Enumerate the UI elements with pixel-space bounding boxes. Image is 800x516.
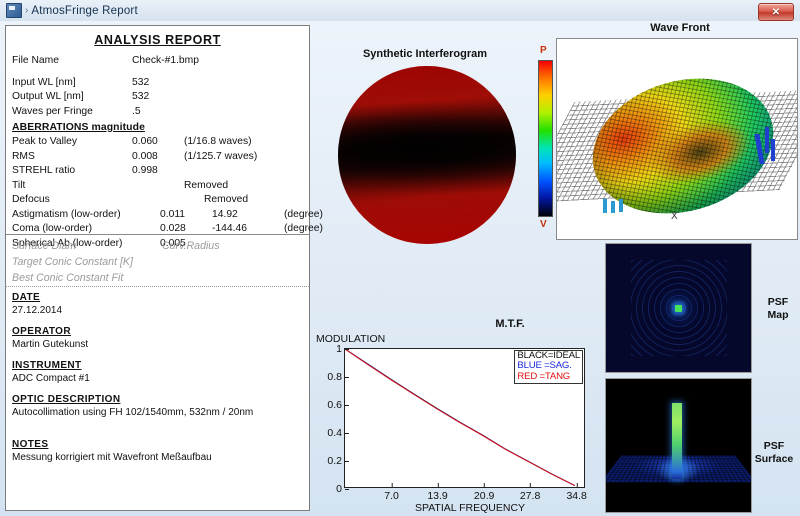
title-separator-icon: › bbox=[25, 5, 28, 16]
legend-item-tangential: RED =TANG bbox=[517, 372, 580, 382]
aberration-value: 0.998 bbox=[132, 164, 184, 179]
mtf-y-tick: 1 bbox=[336, 343, 345, 355]
aberration-note: (1/125.7 waves) bbox=[184, 150, 257, 165]
color-scale-gradient bbox=[538, 60, 553, 217]
mtf-x-tick: 27.8 bbox=[520, 487, 540, 502]
aberration-note: (degree) bbox=[284, 208, 323, 223]
aberration-note: (degree) bbox=[284, 222, 323, 237]
mtf-x-axis-label: SPATIAL FREQUENCY bbox=[415, 502, 525, 514]
psf-surface-label-line1: PSF bbox=[764, 440, 784, 452]
application-window: › AtmosFringe Report ✕ ANALYSIS REPORT F… bbox=[0, 0, 800, 516]
aberration-note: (1/16.8 waves) bbox=[184, 135, 252, 150]
psf-surface-peak bbox=[672, 403, 682, 479]
aberration-row: RMS 0.008 (1/125.7 waves) bbox=[12, 150, 303, 165]
psf-surface-label-line2: Surface bbox=[755, 453, 794, 465]
metadata-section: DATE 27.12.2014 OPERATOR Martin Gutekuns… bbox=[6, 287, 309, 508]
peak-label: P bbox=[540, 45, 547, 56]
param-label: Waves per Fringe bbox=[12, 105, 132, 120]
mtf-y-tick: 0.4 bbox=[327, 427, 345, 439]
conic-label: Best Conic Constant Fit bbox=[12, 270, 162, 286]
aberration-value bbox=[132, 193, 204, 208]
instrument-value: ADC Compact #1 bbox=[12, 372, 303, 385]
wavefront-edge-spike bbox=[619, 199, 623, 212]
wavefront-plot: X bbox=[556, 38, 798, 240]
wavefront-edge-spike bbox=[611, 201, 615, 213]
interferogram-fringe-overlay bbox=[338, 66, 516, 244]
conic-label: Target Conic Constant [K] bbox=[12, 254, 162, 270]
aberration-label: Coma (low-order) bbox=[12, 222, 160, 237]
psf-map-image bbox=[605, 243, 752, 373]
param-value: .5 bbox=[132, 105, 184, 120]
mtf-y-tick: 0 bbox=[336, 483, 345, 495]
color-scale: P V bbox=[536, 47, 554, 227]
param-label: Output WL [nm] bbox=[12, 90, 132, 105]
wavefront-edge-spike bbox=[771, 139, 775, 161]
instrument-heading: INSTRUMENT bbox=[12, 360, 303, 371]
aberration-note: Removed bbox=[204, 193, 248, 208]
param-label: Input WL [nm] bbox=[12, 76, 132, 91]
analysis-report-panel: ANALYSIS REPORT File Name Check-#1.bmp I… bbox=[5, 25, 310, 511]
aberration-row: STREHL ratio 0.998 bbox=[12, 164, 303, 179]
aberration-note: Removed bbox=[184, 179, 228, 194]
synthetic-interferogram-image bbox=[338, 66, 516, 244]
mtf-chart: 00.20.40.60.81 7.013.920.927.834.8 BLACK… bbox=[344, 348, 585, 488]
psf-surface-label: PSF Surface bbox=[748, 440, 800, 466]
aberration-row: Astigmatism (low-order) 0.011 14.92 (deg… bbox=[12, 208, 303, 223]
aberrations-heading: ABERRATIONS magnitude bbox=[12, 122, 303, 133]
aberration-row: Defocus Removed bbox=[12, 193, 303, 208]
aberration-angle: -144.46 bbox=[212, 222, 284, 237]
wavefront-x-axis-label: X bbox=[671, 211, 678, 222]
aberration-value: 0.028 bbox=[160, 222, 212, 237]
conic-row: Target Conic Constant [K] bbox=[12, 254, 303, 270]
date-value: 27.12.2014 bbox=[12, 304, 303, 317]
wavefront-title: Wave Front bbox=[600, 22, 760, 34]
conic-row: Best Conic Constant Fit bbox=[12, 270, 303, 286]
aberration-label: RMS bbox=[12, 150, 132, 165]
mtf-x-tick: 20.9 bbox=[474, 487, 494, 502]
param-value: 532 bbox=[132, 90, 184, 105]
valley-label: V bbox=[540, 219, 547, 230]
aberration-angle: 14.92 bbox=[212, 208, 284, 223]
conic-label: Surface Diam bbox=[12, 238, 162, 254]
aberration-row: Peak to Valley 0.060 (1/16.8 waves) bbox=[12, 135, 303, 150]
aberration-label: Peak to Valley bbox=[12, 135, 132, 150]
aberration-label: Astigmatism (low-order) bbox=[12, 208, 160, 223]
psf-map-label: PSF Map bbox=[752, 296, 800, 322]
aberration-label: Tilt bbox=[12, 179, 132, 194]
optic-description-heading: OPTIC DESCRIPTION bbox=[12, 394, 303, 405]
notes-heading: NOTES bbox=[12, 439, 303, 450]
file-name-label: File Name bbox=[12, 54, 132, 69]
optic-description-value: Autocollimation using FH 102/1540mm, 532… bbox=[12, 406, 303, 419]
aberration-label: STREHL ratio bbox=[12, 164, 132, 179]
operator-heading: OPERATOR bbox=[12, 326, 303, 337]
conic-label-2: Curv.Radius bbox=[162, 238, 220, 254]
window-title: AtmosFringe Report bbox=[31, 5, 138, 17]
aberration-value: 0.060 bbox=[132, 135, 184, 150]
conic-row: Surface Diam Curv.Radius bbox=[12, 238, 303, 254]
title-bar: › AtmosFringe Report ✕ bbox=[0, 0, 800, 21]
psf-map-label-line1: PSF bbox=[768, 296, 788, 308]
mtf-legend: BLACK=IDEAL BLUE =SAG. RED =TANG bbox=[514, 350, 583, 384]
mtf-x-tick: 7.0 bbox=[384, 487, 399, 502]
param-row: Output WL [nm] 532 bbox=[12, 90, 303, 105]
param-row: Waves per Fringe .5 bbox=[12, 105, 303, 120]
app-icon bbox=[6, 3, 22, 18]
param-value: 532 bbox=[132, 76, 184, 91]
mtf-y-axis-label: MODULATION bbox=[316, 333, 385, 345]
page-title: ANALYSIS REPORT bbox=[12, 33, 303, 47]
conic-section: Surface Diam Curv.Radius Target Conic Co… bbox=[6, 235, 309, 287]
mtf-title: M.T.F. bbox=[455, 318, 565, 330]
aberration-row: Tilt Removed bbox=[12, 179, 303, 194]
wavefront-edge-spike bbox=[603, 199, 607, 213]
interferogram-title: Synthetic Interferogram bbox=[355, 48, 495, 60]
file-name-row: File Name Check-#1.bmp bbox=[12, 54, 303, 69]
mtf-y-tick: 0.2 bbox=[327, 455, 345, 467]
psf-surface-image bbox=[605, 378, 752, 513]
aberration-value: 0.008 bbox=[132, 150, 184, 165]
param-row: Input WL [nm] 532 bbox=[12, 76, 303, 91]
report-main-section: ANALYSIS REPORT File Name Check-#1.bmp I… bbox=[6, 26, 309, 235]
mtf-y-tick: 0.6 bbox=[327, 399, 345, 411]
mtf-x-tick: 34.8 bbox=[566, 487, 586, 502]
aberration-label: Defocus bbox=[12, 193, 132, 208]
close-button[interactable]: ✕ bbox=[758, 3, 794, 21]
mtf-y-tick: 0.8 bbox=[327, 371, 345, 383]
notes-value: Messung korrigiert mit Wavefront Meßaufb… bbox=[12, 451, 303, 464]
psf-map-label-line2: Map bbox=[768, 309, 789, 321]
aberration-value: 0.011 bbox=[160, 208, 212, 223]
operator-value: Martin Gutekunst bbox=[12, 338, 303, 351]
aberration-value bbox=[132, 179, 184, 194]
date-heading: DATE bbox=[12, 292, 303, 303]
psf-map-core bbox=[675, 305, 682, 312]
aberration-row: Coma (low-order) 0.028 -144.46 (degree) bbox=[12, 222, 303, 237]
wavefront-edge-spike bbox=[765, 127, 769, 153]
mtf-x-tick: 13.9 bbox=[427, 487, 447, 502]
file-name-value: Check-#1.bmp bbox=[132, 54, 199, 69]
